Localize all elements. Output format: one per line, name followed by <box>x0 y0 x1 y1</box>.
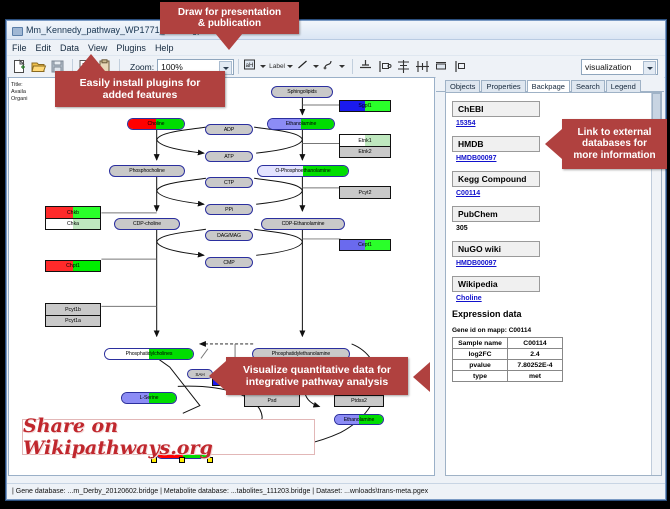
zoom-value: 100% <box>161 62 183 72</box>
gene-row[interactable]: Pcyt1a <box>46 315 100 326</box>
pathway-organism-label: Organi <box>11 96 28 103</box>
interaction-icon[interactable] <box>322 58 335 75</box>
node-phosphatidylcholines[interactable]: Phosphatidylcholines <box>104 348 194 360</box>
cell-label: pvalue <box>453 360 508 371</box>
pathvisio-icon <box>11 25 22 36</box>
chevron-down-icon[interactable] <box>339 65 345 68</box>
cell-value: 2.4 <box>508 349 563 360</box>
tab-properties[interactable]: Properties <box>481 80 525 92</box>
align-center-icon[interactable] <box>357 58 374 75</box>
node-atp[interactable]: ATP <box>205 151 253 162</box>
node-ctp[interactable]: CTP <box>205 177 253 188</box>
label-dropdown-label: Label <box>269 63 285 70</box>
menu-item-data[interactable]: Data <box>60 43 79 53</box>
tab-search[interactable]: Search <box>571 80 605 92</box>
visualization-value: visualization <box>585 62 631 72</box>
cell-value: C00114 <box>508 338 563 349</box>
toolbar-separator-3 <box>238 59 239 74</box>
gene-cept1[interactable]: Cept1 <box>339 239 391 251</box>
share-callout-text: Share on Wikipathways.org <box>23 415 314 459</box>
visualize-callout: Visualize quantitative data for integrat… <box>226 357 408 395</box>
cell-label: log2FC <box>453 349 508 360</box>
menu-item-help[interactable]: Help <box>155 43 174 53</box>
tab-objects[interactable]: Objects <box>445 80 480 92</box>
gene-row[interactable]: Etnk2 <box>340 146 390 157</box>
backpage-header-hmdb: HMDB <box>452 136 540 152</box>
toolbar-separator-4 <box>352 59 353 74</box>
gene-pcyt1b-pcyt1a[interactable]: Pcyt1b Pcyt1a <box>45 303 101 327</box>
table-row: log2FC 2.4 <box>453 349 563 360</box>
plugins-callout: Easily install plugins for added feature… <box>55 71 225 107</box>
gene-sgpl1[interactable]: Sgpl1 <box>339 100 391 112</box>
menu-item-view[interactable]: View <box>88 43 107 53</box>
cell-label: type <box>453 371 508 382</box>
gene-etnk1-etnk2[interactable]: Etnk1 Etnk2 <box>339 134 391 158</box>
gene-chkb-chka[interactable]: Chkb Chka <box>45 206 101 230</box>
menu-item-file[interactable]: File <box>12 43 27 53</box>
visualize-callout-arrow-icon <box>209 361 226 391</box>
table-row: type met <box>453 371 563 382</box>
pathway-title-label: Title: <box>11 82 28 89</box>
node-cmp[interactable]: CMP <box>205 257 253 268</box>
backpage-header-kegg: Kegg Compound <box>452 171 540 187</box>
side-panel-tabs: Objects Properties Backpage Search Legen… <box>436 77 664 92</box>
new-icon[interactable] <box>11 58 28 75</box>
draw-callout-text: Draw for presentation & publication <box>178 7 281 30</box>
gene-chpt1[interactable]: Chpt1 <box>45 260 101 272</box>
gene-row[interactable]: Ptdss2 <box>335 396 383 406</box>
chevron-down-icon[interactable] <box>287 65 293 68</box>
gene-row[interactable]: Psd <box>245 395 299 406</box>
ungroup-icon[interactable] <box>452 58 469 75</box>
label-dropdown[interactable]: Label <box>269 63 293 70</box>
pathway-availab-label: Availa <box>11 89 28 96</box>
node-ethanolamine-2[interactable]: Ethanolamine <box>334 414 384 425</box>
node-dagmag[interactable]: DAG/MAG <box>205 230 253 241</box>
backpage-link-wikipedia[interactable]: Choline <box>456 295 661 302</box>
expression-data-heading: Expression data <box>452 309 661 319</box>
line-icon[interactable] <box>296 58 309 75</box>
node-o-phosphoethanolamine[interactable]: O-Phosphoethanolamine <box>257 165 349 177</box>
gene-psd[interactable]: Psd <box>244 394 300 407</box>
zoom-label: Zoom: <box>130 62 154 72</box>
menu-item-plugins[interactable]: Plugins <box>116 43 146 53</box>
cell-value: 7.80252E-4 <box>508 360 563 371</box>
align-left-icon[interactable] <box>376 58 393 75</box>
node-cdp-choline[interactable]: CDP-choline <box>114 218 180 230</box>
group-icon[interactable] <box>433 58 450 75</box>
gene-row[interactable]: Pcyt1b <box>46 304 100 315</box>
gene-row[interactable]: Chka <box>46 218 100 229</box>
draw-callout-arrow-icon <box>215 33 243 50</box>
tab-legend[interactable]: Legend <box>606 80 641 92</box>
draw-callout: Draw for presentation & publication <box>160 2 299 34</box>
plugins-callout-arrow-icon <box>77 54 105 71</box>
pathway-info-labels: Title: Availa Organi <box>11 82 28 103</box>
node-phosphocholine[interactable]: Phosphocholine <box>109 165 185 177</box>
backpage-link-nugo[interactable]: HMDB00097 <box>456 260 661 267</box>
menu-bar: File Edit Data View Plugins Help <box>7 40 665 56</box>
chevron-down-icon[interactable] <box>260 65 266 68</box>
datanode-dropdown[interactable]: aH <box>243 58 266 75</box>
gene-row[interactable]: Sgpl1 <box>340 101 390 111</box>
gene-ptdss2[interactable]: Ptdss2 <box>334 395 384 407</box>
status-bar: | Gene database: ...m_Derby_20120602.bri… <box>7 483 665 499</box>
menu-item-edit[interactable]: Edit <box>36 43 52 53</box>
plugins-callout-text: Easily install plugins for added feature… <box>80 77 201 101</box>
backpage-header-pubchem: PubChem <box>452 206 540 222</box>
backpage-header-chebi: ChEBI <box>452 101 540 117</box>
svg-text:aH: aH <box>246 63 254 69</box>
status-text: | Gene database: ...m_Derby_20120602.bri… <box>7 488 428 495</box>
chevron-down-icon[interactable] <box>313 65 319 68</box>
link-callout-text: Link to external databases for more info… <box>573 127 655 162</box>
gene-pcyt2[interactable]: Pcyt2 <box>339 186 391 199</box>
gene-id-on-mapp: Gene id on mapp: C00114 <box>452 327 661 334</box>
window-titlebar: Mm_Kennedy_pathway_WP1771_45176.gpml <box>7 21 665 40</box>
gene-row[interactable]: Chkb <box>46 207 100 218</box>
node-cdp-ethanolamine[interactable]: CDP-Ethanolamine <box>261 218 345 230</box>
node-ppi[interactable]: PPi <box>205 204 253 215</box>
cell-value: met <box>508 371 563 382</box>
table-row: Sample name C00114 <box>453 338 563 349</box>
backpage-link-kegg[interactable]: C00114 <box>456 190 661 197</box>
node-adp[interactable]: ADP <box>205 124 253 135</box>
node-ethanolamine[interactable]: Ethanolamine <box>267 118 335 130</box>
visualization-combobox[interactable]: visualization <box>581 59 658 75</box>
link-callout-arrow-icon <box>545 129 562 159</box>
backpage-header-wikipedia: Wikipedia <box>452 276 540 292</box>
cell-label: Sample name <box>453 338 508 349</box>
link-callout: Link to external databases for more info… <box>562 119 667 169</box>
chevron-down-icon[interactable] <box>643 61 656 75</box>
expression-data-table: Sample name C00114 log2FC 2.4 pvalue 7.8… <box>452 337 563 382</box>
distribute-vertical-icon[interactable] <box>395 58 412 75</box>
share-callout: Share on Wikipathways.org <box>22 419 315 455</box>
table-row: pvalue 7.80252E-4 <box>453 360 563 371</box>
line-dropdown[interactable] <box>296 58 319 75</box>
visualize-callout-text: Visualize quantitative data for integrat… <box>243 364 391 388</box>
datanode-icon[interactable]: aH <box>243 58 256 75</box>
screenshot-root: Mm_Kennedy_pathway_WP1771_45176.gpml Fil… <box>0 0 670 509</box>
node-sphingolipids[interactable]: Sphingolipids <box>271 86 333 98</box>
backpage-value-pubchem: 305 <box>456 225 661 232</box>
gene-row[interactable]: Chpt1 <box>46 261 100 271</box>
gene-row[interactable]: Cept1 <box>340 240 390 250</box>
backpage-header-nugo: NuGO wiki <box>452 241 540 257</box>
node-choline-top[interactable]: Choline <box>127 118 185 130</box>
interaction-dropdown[interactable] <box>322 58 345 75</box>
gene-row[interactable]: Pcyt2 <box>340 187 390 198</box>
distribute-horizontal-icon[interactable] <box>414 58 431 75</box>
gene-row[interactable]: Etnk1 <box>340 135 390 146</box>
open-icon[interactable] <box>30 58 47 75</box>
node-l-serine-1[interactable]: L-Serine <box>121 392 177 404</box>
expression-callout-arrow-icon <box>413 362 430 392</box>
